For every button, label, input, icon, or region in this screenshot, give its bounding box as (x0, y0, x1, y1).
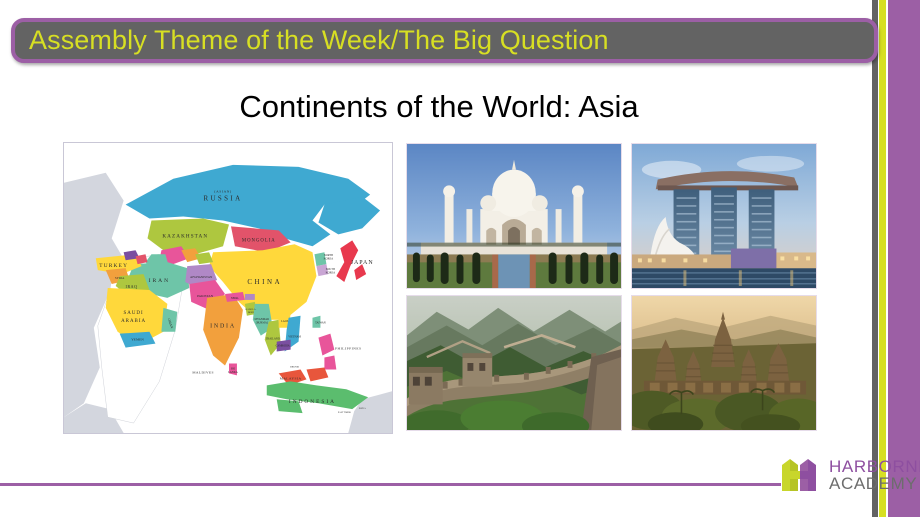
slide: Assembly Theme of the Week/The Big Quest… (0, 0, 920, 517)
svg-text:NEPAL: NEPAL (231, 297, 239, 300)
svg-text:MONGOLIA: MONGOLIA (242, 238, 276, 243)
svg-text:MALAYSIA: MALAYSIA (280, 376, 302, 380)
svg-text:AFGHANISTAN: AFGHANISTAN (190, 275, 213, 279)
great-wall-image (407, 296, 621, 430)
svg-text:VIETNAM: VIETNAM (288, 336, 301, 339)
logo-line-academy: ACADEMY (829, 475, 920, 492)
svg-text:DESH: DESH (248, 311, 254, 314)
bottom-divider (0, 483, 781, 486)
svg-text:EAST TIMOR: EAST TIMOR (338, 411, 351, 414)
svg-text:INDONESIA: INDONESIA (289, 399, 336, 405)
harborne-academy-logo: HARBORNE ACADEMY (778, 450, 912, 500)
page-title: Continents of the World: Asia (0, 89, 878, 125)
svg-text:LANKA: LANKA (228, 371, 238, 374)
svg-text:PHILIPPINES: PHILIPPINES (335, 347, 361, 351)
svg-text:JAPAN: JAPAN (351, 260, 374, 266)
svg-text:BRUNEI: BRUNEI (290, 365, 299, 368)
svg-text:PAKISTAN: PAKISTAN (197, 294, 214, 298)
svg-text:INDIA: INDIA (210, 324, 236, 330)
h-monogram-icon (778, 453, 822, 497)
logo-line-harborne: HARBORNE (829, 458, 920, 475)
svg-text:SYRIA: SYRIA (115, 276, 125, 280)
svg-text:MALDIVES: MALDIVES (192, 370, 214, 374)
title-banner-text: Assembly Theme of the Week/The Big Quest… (15, 27, 609, 54)
svg-text:TAIWAN: TAIWAN (315, 322, 326, 325)
taj-mahal-image (407, 144, 621, 288)
svg-text:ARABIA: ARABIA (121, 319, 146, 324)
title-banner: Assembly Theme of the Week/The Big Quest… (11, 18, 878, 63)
svg-text:(BURMA): (BURMA) (256, 321, 268, 324)
svg-text:RUSSIA: RUSSIA (204, 195, 243, 203)
svg-text:IRAQ: IRAQ (126, 284, 138, 289)
map-of-asia: (ASIAN) RUSSIA KAZAKHSTAN MONGOLIA CHINA… (63, 142, 393, 434)
photo-great-wall-of-china (406, 295, 622, 431)
svg-text:CHINA: CHINA (247, 278, 282, 286)
svg-text:KOREA: KOREA (326, 272, 336, 275)
svg-text:TURKEY: TURKEY (99, 263, 128, 269)
marina-bay-sands-image (632, 144, 816, 288)
photo-marina-bay-sands (631, 143, 817, 289)
photo-taj-mahal (406, 143, 622, 289)
logo-wordmark: HARBORNE ACADEMY (829, 458, 920, 492)
svg-text:KAZAKHSTAN: KAZAKHSTAN (162, 233, 208, 239)
edge-stripe-yellow (879, 0, 886, 517)
svg-text:(ASIAN): (ASIAN) (214, 190, 232, 194)
svg-text:THAILAND: THAILAND (266, 338, 280, 341)
svg-text:LAOS: LAOS (281, 320, 289, 323)
svg-text:PAPUA: PAPUA (359, 407, 366, 410)
media-area: (ASIAN) RUSSIA KAZAKHSTAN MONGOLIA CHINA… (0, 141, 878, 441)
svg-text:SAUDI: SAUDI (124, 311, 144, 316)
svg-text:CAMBODIA: CAMBODIA (276, 345, 290, 348)
svg-text:KOREA: KOREA (324, 258, 334, 261)
angkor-wat-image (632, 296, 816, 430)
photo-angkor-wat (631, 295, 817, 431)
svg-text:YEMEN: YEMEN (131, 338, 144, 342)
svg-text:IRAN: IRAN (149, 278, 171, 284)
map-graphic: (ASIAN) RUSSIA KAZAKHSTAN MONGOLIA CHINA… (64, 143, 392, 433)
edge-stripe-purple (888, 0, 920, 517)
